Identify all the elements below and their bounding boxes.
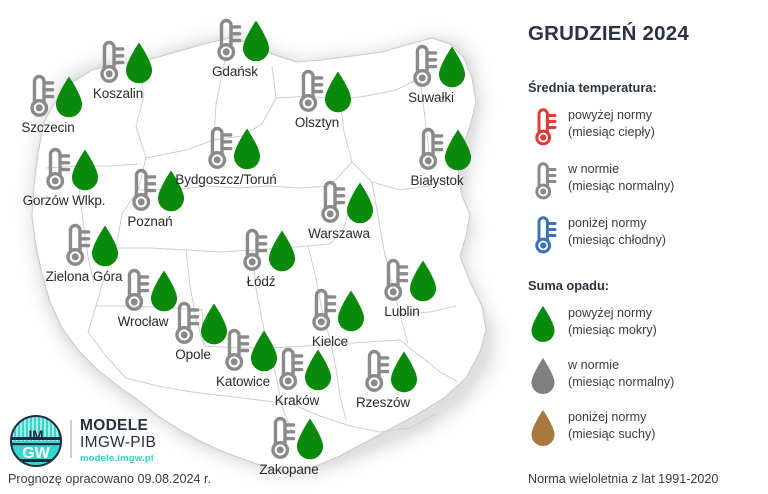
thermometer-icon bbox=[313, 178, 347, 231]
thermometer-icon bbox=[58, 221, 92, 274]
city-label: Zielona Góra bbox=[46, 269, 123, 284]
legend-item-precip-below: poniżej normy (miesiąc suchy) bbox=[528, 408, 764, 454]
legend-item-temp-above: powyżej normy (miesiąc ciepły) bbox=[528, 106, 764, 152]
city-label: Lublin bbox=[384, 304, 419, 319]
city-label: Białystok bbox=[410, 173, 463, 188]
imgw-logo: IM GW MODELE IMGW-PIB modele.imgw.pl bbox=[8, 415, 198, 467]
city-label: Kraków bbox=[275, 393, 319, 408]
city-label: Rzeszów bbox=[356, 395, 410, 410]
city-label: Bydgoszcz/Toruń bbox=[175, 172, 276, 187]
thermometer-icon bbox=[200, 124, 234, 177]
city-label: Zakopane bbox=[259, 462, 318, 477]
logo-title-imgw-pib: IMGW-PIB bbox=[80, 434, 156, 452]
legend-panel: GRUDZIEŃ 2024 Średnia temperatura: powyż… bbox=[520, 0, 768, 494]
thermometer-icon bbox=[217, 326, 251, 379]
page-title: GRUDZIEŃ 2024 bbox=[528, 22, 689, 46]
legend-item-text: powyżej normy (miesiąc ciepły) bbox=[568, 107, 655, 141]
thermometer-icon bbox=[22, 72, 56, 125]
logo-url: modele.imgw.pl bbox=[80, 453, 154, 464]
legend-item-text: powyżej normy (miesiąc mokry) bbox=[568, 305, 657, 339]
legend-item-text: poniżej normy (miesiąc chłodny) bbox=[568, 215, 666, 249]
city-label: Łódź bbox=[247, 274, 276, 289]
thermometer-icon bbox=[124, 166, 158, 219]
city-label: Warszawa bbox=[308, 226, 370, 241]
droplet-icon bbox=[528, 408, 558, 450]
legend-item-text: w normie (miesiąc normalny) bbox=[568, 357, 674, 391]
city-label: Olsztyn bbox=[295, 115, 339, 130]
city-label: Wrocław bbox=[118, 314, 169, 329]
thermometer-icon bbox=[38, 145, 72, 198]
logo-mark-text-top: IM bbox=[29, 428, 44, 443]
thermometer-icon bbox=[528, 160, 558, 202]
city-label: Suwałki bbox=[408, 90, 454, 105]
thermometer-icon bbox=[291, 67, 325, 120]
legend-item-temp-normal: w normie (miesiąc normalny) bbox=[528, 160, 764, 206]
thermometer-icon bbox=[357, 347, 391, 400]
weather-map-page: SzczecinKoszalinGdańskOlsztynSuwałkiGorz… bbox=[0, 0, 768, 494]
droplet-icon bbox=[528, 304, 558, 346]
thermometer-icon bbox=[376, 256, 410, 309]
city-label: Koszalin bbox=[93, 86, 143, 101]
forecast-date-note: Prognozę opracowano 09.08.2024 r. bbox=[8, 472, 211, 486]
precipitation-legend-heading: Suma opadu: bbox=[528, 278, 609, 293]
legend-item-precip-normal: w normie (miesiąc normalny) bbox=[528, 356, 764, 402]
legend-item-text: w normie (miesiąc normalny) bbox=[568, 161, 674, 195]
city-label: Gorzów Wlkp. bbox=[23, 193, 106, 208]
thermometer-icon bbox=[405, 42, 439, 95]
thermometer-icon bbox=[209, 16, 243, 69]
logo-divider bbox=[70, 420, 72, 458]
thermometer-icon bbox=[263, 414, 297, 467]
logo-title-modele: MODELE bbox=[80, 417, 148, 435]
thermometer-icon bbox=[304, 286, 338, 339]
city-label: Poznań bbox=[127, 214, 172, 229]
thermometer-icon bbox=[271, 345, 305, 398]
logo-mark-text-bottom: GW bbox=[22, 445, 50, 462]
imgw-logo-mark: IM GW bbox=[8, 415, 64, 467]
city-label: Opole bbox=[175, 347, 211, 362]
thermometer-icon bbox=[167, 299, 201, 352]
thermometer-icon bbox=[528, 214, 558, 256]
droplet-icon bbox=[528, 356, 558, 398]
thermometer-icon bbox=[235, 226, 269, 279]
thermometer-icon bbox=[117, 266, 151, 319]
legend-item-precip-above: powyżej normy (miesiąc mokry) bbox=[528, 304, 764, 350]
city-label: Szczecin bbox=[21, 120, 74, 135]
legend-item-text: poniżej normy (miesiąc suchy) bbox=[568, 409, 655, 443]
legend-item-temp-below: poniżej normy (miesiąc chłodny) bbox=[528, 214, 764, 260]
thermometer-icon bbox=[92, 38, 126, 91]
temperature-legend-heading: Średnia temperatura: bbox=[528, 80, 657, 95]
thermometer-icon bbox=[528, 106, 558, 148]
norm-period-note: Norma wieloletnia z lat 1991-2020 bbox=[528, 472, 718, 486]
city-label: Gdańsk bbox=[212, 64, 258, 79]
thermometer-icon bbox=[411, 125, 445, 178]
city-label: Katowice bbox=[216, 374, 270, 389]
